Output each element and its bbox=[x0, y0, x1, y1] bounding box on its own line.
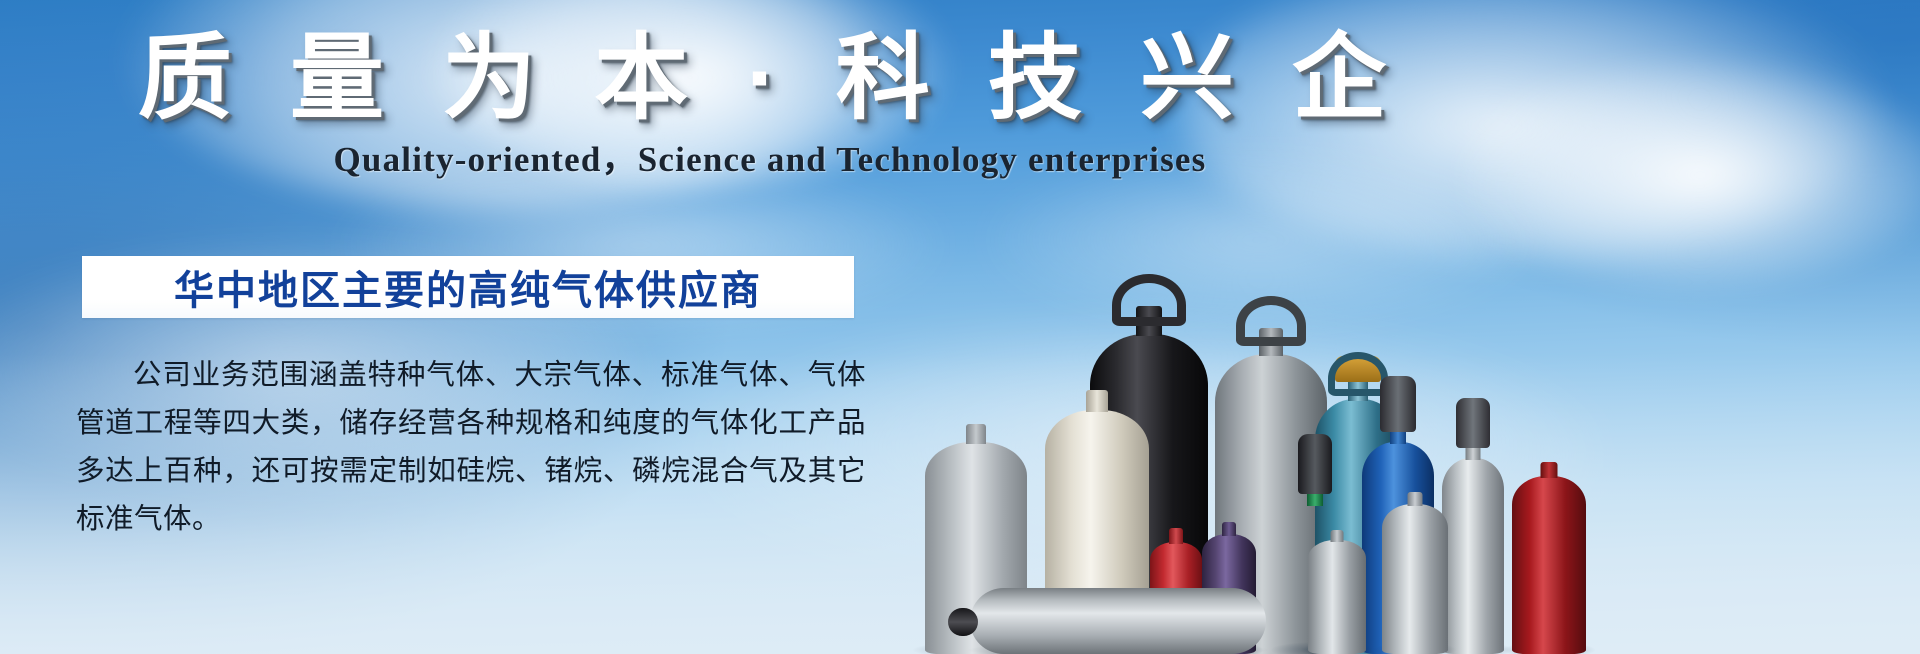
aluminium-cylinder bbox=[1308, 526, 1366, 654]
promo-banner: 质 量 为 本 · 科 技 兴 企 Quality-oriented，Scien… bbox=[0, 0, 1920, 654]
banner-description: 公司业务范围涵盖特种气体、大宗气体、标准气体、气体管道工程等四大类，储存经营各种… bbox=[76, 352, 866, 544]
highlight-box: 华中地区主要的高纯气体供应商 bbox=[82, 256, 854, 318]
gas-cylinder-lineup bbox=[1140, 0, 1920, 654]
highlight-box-text: 华中地区主要的高纯气体供应商 bbox=[174, 258, 762, 316]
aluminium-cylinder bbox=[1382, 489, 1448, 654]
cylinder-cap-icon bbox=[1380, 376, 1416, 432]
dark-red-cylinder bbox=[1512, 454, 1586, 654]
cylinder-cap-icon bbox=[1456, 398, 1490, 448]
horizontal-grey-cylinder bbox=[970, 580, 1266, 654]
cylinder-cap-icon bbox=[1298, 434, 1332, 494]
aluminium-cylinder bbox=[1442, 399, 1504, 654]
